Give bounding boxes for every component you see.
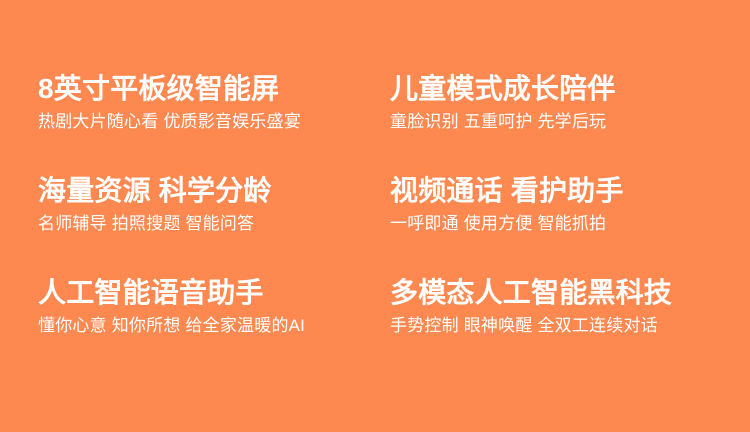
feature-block-multimodal-ai: 多模态人工智能黑科技 手势控制 眼神唤醒 全双工连续对话	[390, 276, 750, 378]
promo-banner: 8英寸平板级智能屏 热剧大片随心看 优质影音娱乐盛宴 儿童模式成长陪伴 童脸识别…	[0, 0, 750, 432]
feature-block-kids-mode: 儿童模式成长陪伴 童脸识别 五重呵护 先学后玩	[390, 72, 750, 174]
feature-grid: 8英寸平板级智能屏 热剧大片随心看 优质影音娱乐盛宴 儿童模式成长陪伴 童脸识别…	[0, 72, 750, 378]
feature-subtitle: 热剧大片随心看 优质影音娱乐盛宴	[38, 110, 390, 134]
feature-headline: 视频通话 看护助手	[390, 174, 750, 208]
feature-subtitle: 一呼即通 使用方便 智能抓拍	[390, 212, 750, 236]
feature-headline: 8英寸平板级智能屏	[38, 72, 390, 106]
feature-subtitle: 懂你心意 知你所想 给全家温暖的AI	[38, 314, 390, 338]
feature-subtitle: 手势控制 眼神唤醒 全双工连续对话	[390, 314, 750, 338]
feature-subtitle: 名师辅导 拍照搜题 智能问答	[38, 212, 390, 236]
feature-headline: 人工智能语音助手	[38, 276, 390, 310]
feature-headline: 儿童模式成长陪伴	[390, 72, 750, 106]
feature-block-smart-screen: 8英寸平板级智能屏 热剧大片随心看 优质影音娱乐盛宴	[38, 72, 390, 174]
feature-block-video-call: 视频通话 看护助手 一呼即通 使用方便 智能抓拍	[390, 174, 750, 276]
feature-block-learning-resources: 海量资源 科学分龄 名师辅导 拍照搜题 智能问答	[38, 174, 390, 276]
feature-headline: 多模态人工智能黑科技	[390, 276, 750, 310]
feature-block-voice-assistant: 人工智能语音助手 懂你心意 知你所想 给全家温暖的AI	[38, 276, 390, 378]
feature-headline: 海量资源 科学分龄	[38, 174, 390, 208]
feature-subtitle: 童脸识别 五重呵护 先学后玩	[390, 110, 750, 134]
